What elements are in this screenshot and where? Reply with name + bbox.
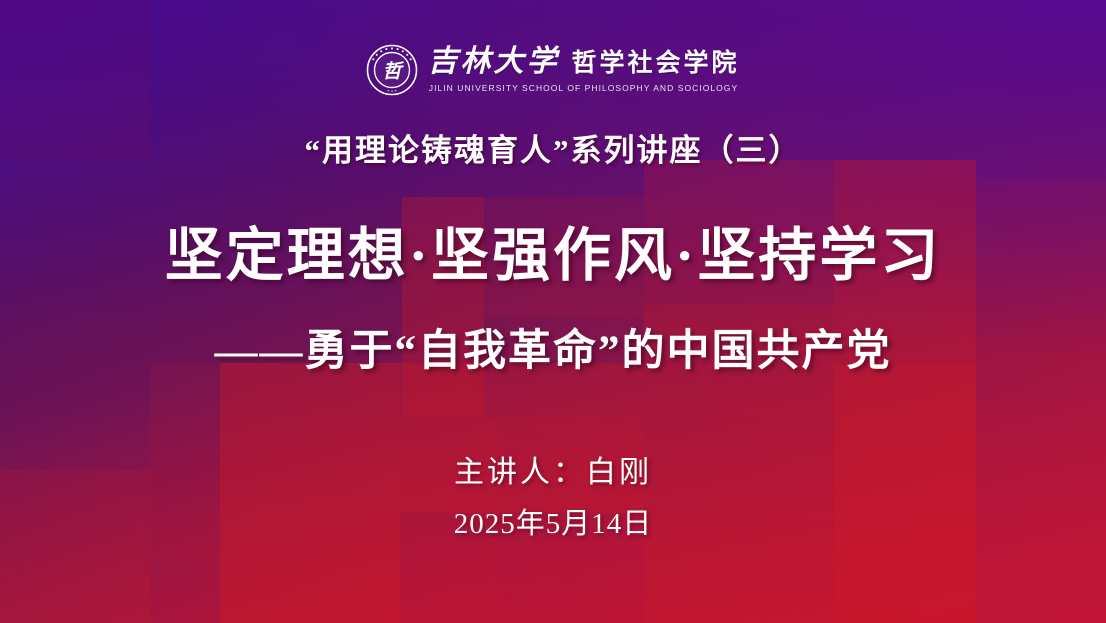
school-name-cn: 哲学社会学院 xyxy=(571,51,739,76)
university-name-cn: 吉林大学 xyxy=(427,47,559,77)
institution-logo-lockup: 哲 吉林大学 哲学社会学院 JILIN UNIVERSITY SCHOOL OF… xyxy=(0,44,1106,96)
page-title: 坚定理想·坚强作风·坚持学习 xyxy=(0,226,1106,287)
institution-name-cn: 吉林大学 哲学社会学院 xyxy=(427,47,739,77)
poster-content: 哲 吉林大学 哲学社会学院 JILIN UNIVERSITY SCHOOL OF… xyxy=(0,0,1106,623)
lecture-series-label: “用理论铸魂育人”系列讲座（三） xyxy=(0,125,1106,170)
speaker-label: 主讲人：白刚 xyxy=(0,447,1106,491)
institution-name-en: JILIN UNIVERSITY SCHOOL OF PHILOSOPHY AN… xyxy=(429,84,738,93)
date-label: 2025年5月14日 xyxy=(0,500,1106,542)
lecture-poster: 哲 吉林大学 哲学社会学院 JILIN UNIVERSITY SCHOOL OF… xyxy=(0,0,1106,623)
page-subtitle: ——勇于“自我革命”的中国共产党 xyxy=(0,316,1106,378)
institution-wordmark: 吉林大学 哲学社会学院 JILIN UNIVERSITY SCHOOL OF P… xyxy=(427,47,739,93)
jilin-university-seal-icon: 哲 xyxy=(366,44,418,96)
svg-text:哲: 哲 xyxy=(383,61,405,83)
